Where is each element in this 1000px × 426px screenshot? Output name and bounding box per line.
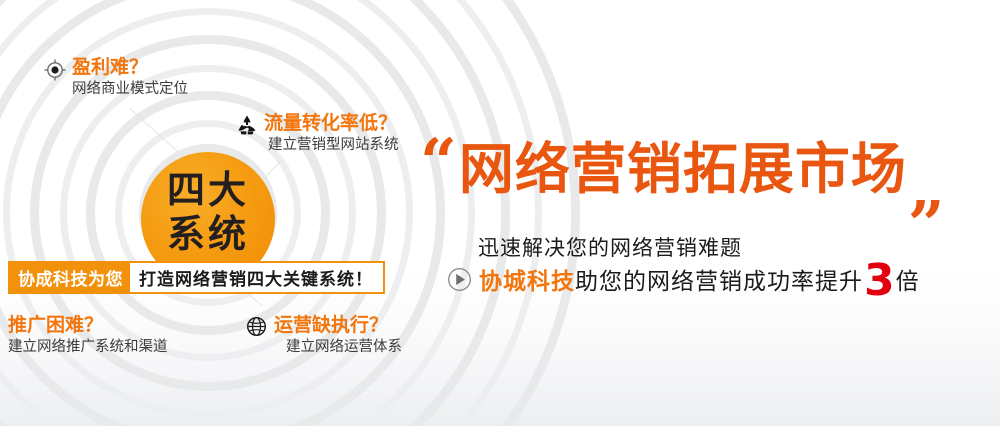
banner-canvas: 四大 系统 盈利难？ 网络商业模式定位 <box>0 0 1000 426</box>
callout-low-conversion: 流量转化率低？ 建立营销型网站系统 <box>264 112 399 155</box>
crosshair-target-icon <box>44 59 66 85</box>
callout-promotion-difficulty: 推广困难？ 建立网络推广系统和渠道 <box>8 314 168 357</box>
callout-heading: 推广困难？ <box>8 314 168 336</box>
center-circle-line-1: 四大 <box>141 170 275 210</box>
subheadline-line-1: 迅速解决您的网络营销难题 <box>478 232 742 262</box>
recycle-icon <box>236 114 258 140</box>
callout-operation-execution: 运营缺执行？ 建立网络运营体系 <box>274 314 402 357</box>
circled-play-icon <box>447 267 472 292</box>
company-name: 协城科技 <box>479 262 575 296</box>
multiplier-value: 3 <box>864 266 895 296</box>
quote-open-mark: “ <box>420 140 457 186</box>
callout-profit-difficulty: 盈利难？ 网络商业模式定位 <box>72 56 188 99</box>
callout-subtext: 建立网络推广系统和渠道 <box>8 338 168 357</box>
tagline-brand: 协成科技为您 <box>10 263 130 292</box>
headline-text: 网络营销拓展市场 <box>459 140 907 198</box>
callout-heading: 盈利难？ <box>72 56 188 78</box>
globe-icon <box>246 316 267 341</box>
multiplier-unit: 倍 <box>896 262 919 296</box>
tagline-message: 打造网络营销四大关键系统！ <box>130 263 383 292</box>
callout-subtext: 网络商业模式定位 <box>72 80 188 99</box>
subheadline-rest: 助您的网络营销成功率提升 <box>575 262 863 296</box>
quote-close-mark: „ <box>909 166 946 212</box>
subheadline-line-2: 协城科技 助您的网络营销成功率提升 3 倍 <box>447 262 919 296</box>
callout-heading: 流量转化率低？ <box>264 112 399 134</box>
tagline-strip: 协成科技为您 打造网络营销四大关键系统！ <box>8 261 385 294</box>
callout-subtext: 建立网络运营体系 <box>286 338 402 357</box>
headline-block: “ 网络营销拓展市场 „ <box>420 140 946 198</box>
callout-heading: 运营缺执行？ <box>274 314 402 336</box>
callout-subtext: 建立营销型网站系统 <box>268 136 399 155</box>
center-circle-line-2: 系统 <box>141 214 275 254</box>
